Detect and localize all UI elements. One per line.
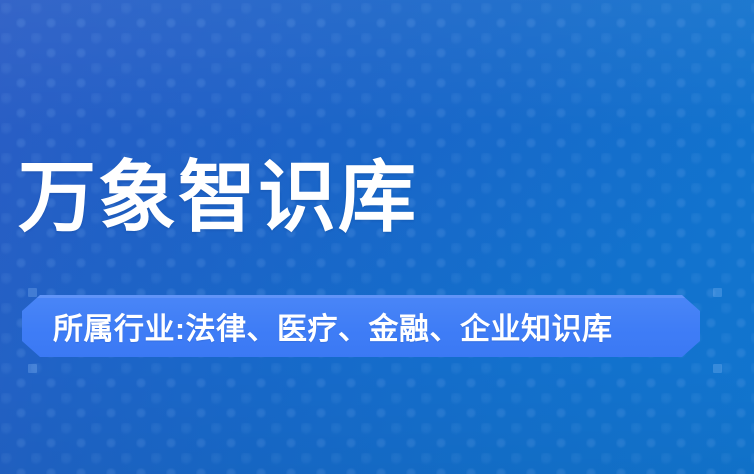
badge-corner-pip-top-left <box>28 288 37 297</box>
industry-badge-label: 所属行业:法律、医疗、金融、企业知识库 <box>53 304 613 348</box>
badge-corner-pip-bottom-left <box>28 364 37 373</box>
badge-corner-pip-bottom-right <box>713 364 722 373</box>
banner-title: 万象智识库 <box>18 158 418 236</box>
promo-banner: 万象智识库 所属行业:法律、医疗、金融、企业知识库 <box>0 0 754 474</box>
industry-badge: 所属行业:法律、医疗、金融、企业知识库 <box>22 295 700 357</box>
badge-corner-pip-top-right <box>713 288 722 297</box>
badge-top-highlight <box>22 295 700 298</box>
